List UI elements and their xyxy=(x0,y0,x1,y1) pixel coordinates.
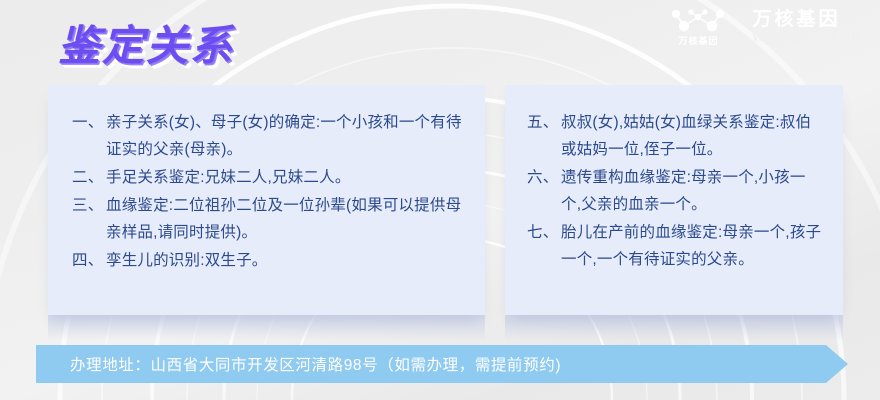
relationship-list-right: 五、 叔叔(女),姑姑(女)血绿关系鉴定:叔伯或姑妈一位,侄子一位。 六、 遗传… xyxy=(505,85,843,273)
list-item-text: 叔叔(女),姑姑(女)血绿关系鉴定:叔伯或姑妈一位,侄子一位。 xyxy=(561,109,825,163)
page-title: 鉴定关系 xyxy=(58,12,234,73)
list-item: 一、 亲子关系(女)、母子(女)的确定:一个小孩和一个有待证实的父亲(母亲)。 xyxy=(72,109,463,163)
brand-mark-label: 万核基因 xyxy=(678,37,718,46)
brand-mark: 万核基因 xyxy=(669,8,727,46)
brand-name-en: WAN HE GENE xyxy=(752,31,862,45)
list-item-number: 五、 xyxy=(527,109,561,136)
list-item: 三、 血缘鉴定:二位祖孙二位及一位孙辈(如果可以提供母亲样品,请同时提供)。 xyxy=(72,192,463,246)
list-item-number: 三、 xyxy=(72,192,106,219)
list-item-number: 二、 xyxy=(72,164,106,191)
list-item-number: 六、 xyxy=(527,164,561,191)
list-item-number: 七、 xyxy=(527,219,561,246)
list-item: 二、 手足关系鉴定:兄妹二人,兄妹二人。 xyxy=(72,164,463,191)
relationship-list-left: 一、 亲子关系(女)、母子(女)的确定:一个小孩和一个有待证实的父亲(母亲)。 … xyxy=(48,85,485,274)
list-item-text: 血缘鉴定:二位祖孙二位及一位孙辈(如果可以提供母亲样品,请同时提供)。 xyxy=(106,192,463,246)
list-item-number: 一、 xyxy=(72,109,106,136)
brand-wordmark: 万核基因 WAN HE GENE xyxy=(752,9,862,45)
brand-divider xyxy=(739,10,740,44)
list-item: 四、 孪生儿的识别:双生子。 xyxy=(72,247,463,274)
poster-root: 鉴定关系 xyxy=(0,0,880,400)
list-item-text: 手足关系鉴定:兄妹二人,兄妹二人。 xyxy=(106,164,463,191)
list-item-number: 四、 xyxy=(72,247,106,274)
list-item-text: 亲子关系(女)、母子(女)的确定:一个小孩和一个有待证实的父亲(母亲)。 xyxy=(106,109,463,163)
poster-header: 鉴定关系 xyxy=(0,0,880,85)
list-item: 五、 叔叔(女),姑姑(女)血绿关系鉴定:叔伯或姑妈一位,侄子一位。 xyxy=(527,109,825,163)
content-panel-right: 五、 叔叔(女),姑姑(女)血绿关系鉴定:叔伯或姑妈一位,侄子一位。 六、 遗传… xyxy=(505,85,843,315)
address-banner-text: 办理地址：山西省大同市开发区河清路98号（如需办理，需提前预约) xyxy=(36,353,561,375)
list-item-text: 遗传重构血缘鉴定:母亲一个,小孩一个,父亲的血亲一个。 xyxy=(561,164,825,218)
molecule-icon xyxy=(669,8,727,34)
list-item: 七、 胎儿在产前的血缘鉴定:母亲一个,孩子一个,一个有待证实的父亲。 xyxy=(527,219,825,273)
brand-logo: 万核基因 万核基因 WAN HE GENE xyxy=(669,8,862,46)
address-banner: 办理地址：山西省大同市开发区河清路98号（如需办理，需提前预约) xyxy=(36,345,848,383)
list-item: 六、 遗传重构血缘鉴定:母亲一个,小孩一个,父亲的血亲一个。 xyxy=(527,164,825,218)
list-item-text: 胎儿在产前的血缘鉴定:母亲一个,孩子一个,一个有待证实的父亲。 xyxy=(561,219,825,273)
brand-name-cn: 万核基因 xyxy=(752,9,862,31)
list-item-text: 孪生儿的识别:双生子。 xyxy=(106,247,463,274)
content-panel-left: 一、 亲子关系(女)、母子(女)的确定:一个小孩和一个有待证实的父亲(母亲)。 … xyxy=(48,85,485,315)
